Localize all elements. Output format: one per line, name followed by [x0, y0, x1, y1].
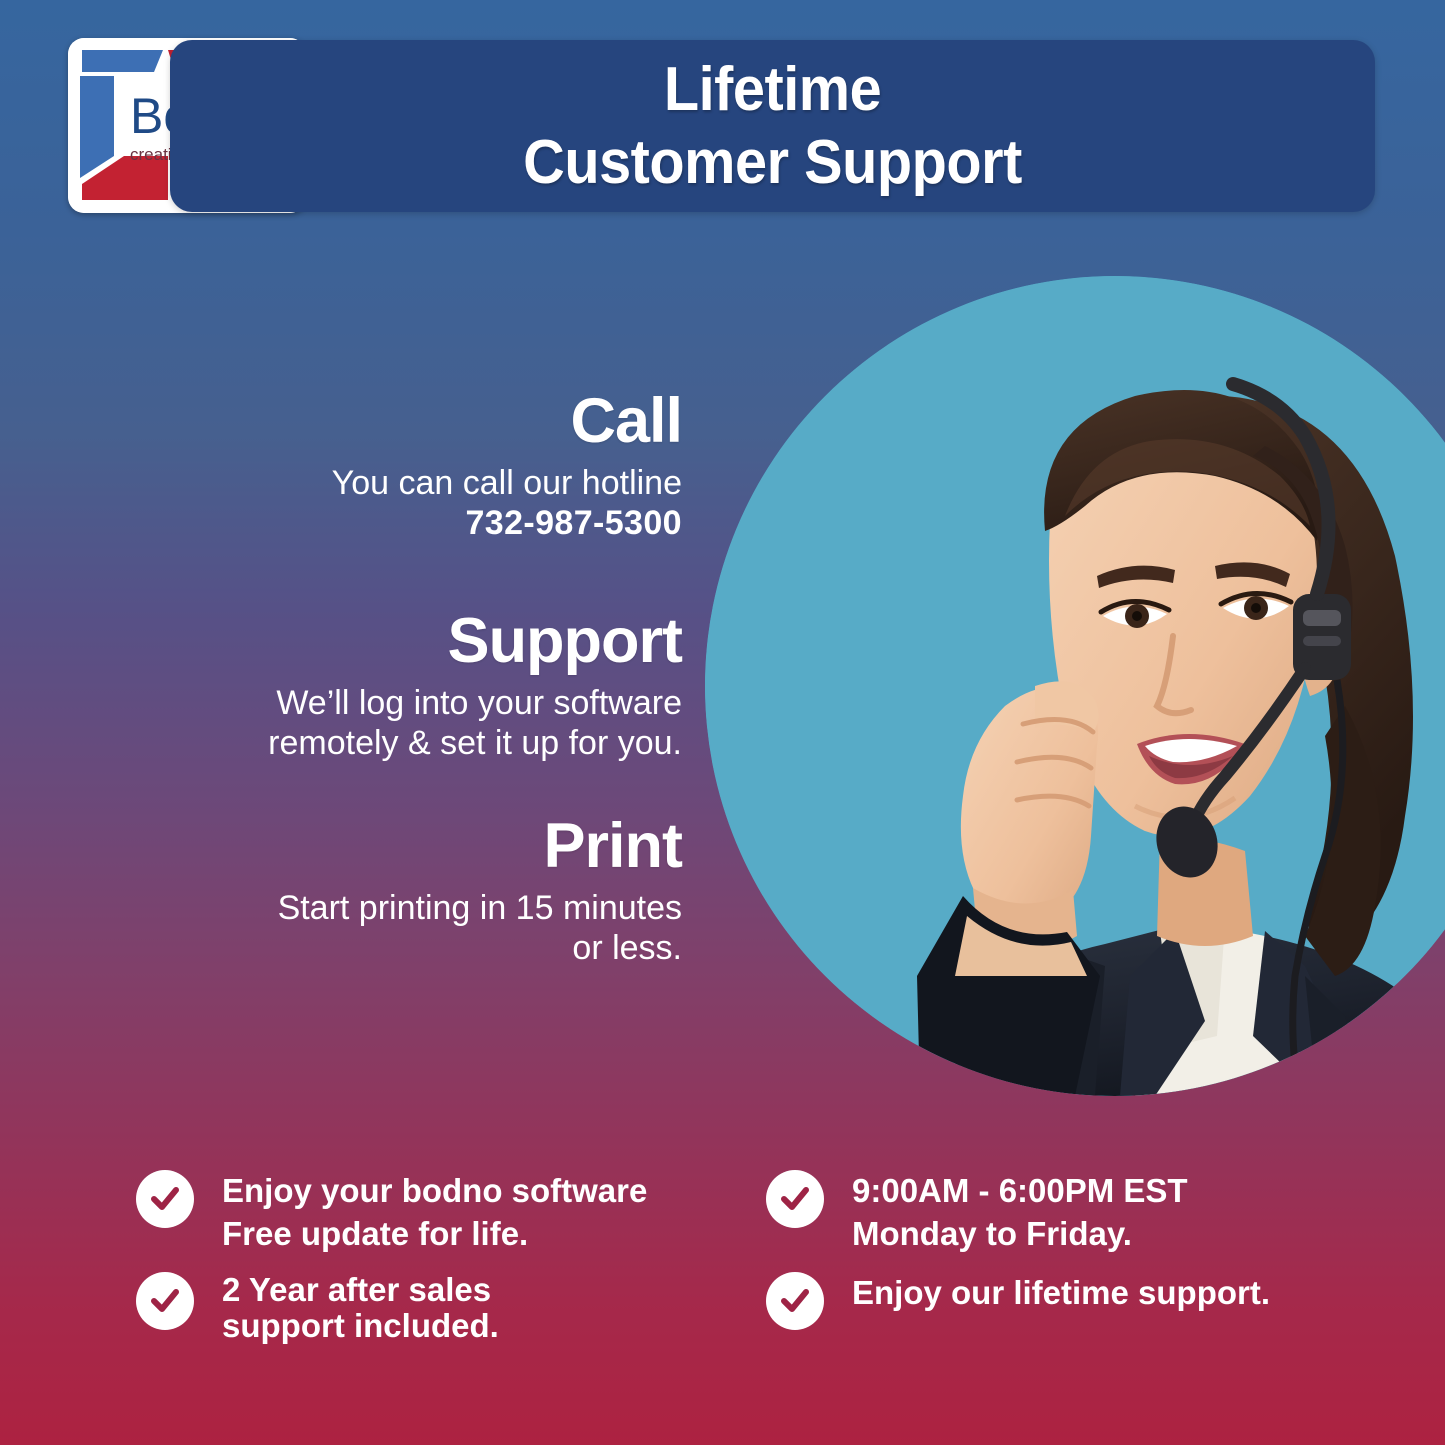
benefits-column-right: 9:00AM - 6:00PM EST Monday to Friday. En…: [766, 1168, 1366, 1344]
support-agent-photo: [705, 276, 1445, 1096]
feature-print: Print Start printing in 15 minutes or le…: [62, 815, 682, 968]
feature-print-body-line1: Start printing in 15 minutes: [278, 889, 682, 927]
list-item-text: 2 Year after sales support included.: [222, 1270, 499, 1345]
benefits-column-left: Enjoy your bodno software Free update fo…: [136, 1168, 726, 1358]
list-item-line1: 2 Year after sales: [222, 1272, 499, 1308]
list-item: 2 Year after sales support included.: [136, 1270, 726, 1345]
check-circle-icon: [766, 1170, 824, 1228]
check-circle-icon: [766, 1272, 824, 1330]
feature-call-body-line1: You can call our hotline: [332, 464, 682, 502]
page-title-line2: Customer Support: [523, 126, 1022, 199]
list-item-text: Enjoy our lifetime support.: [852, 1270, 1270, 1315]
feature-print-body: Start printing in 15 minutes or less.: [62, 888, 682, 968]
list-item-line1: 9:00AM - 6:00PM EST: [852, 1170, 1188, 1213]
feature-support-body-line1: We’ll log into your software: [276, 684, 682, 722]
benefits-checklist: Enjoy your bodno software Free update fo…: [0, 1168, 1445, 1398]
list-item: Enjoy your bodno software Free update fo…: [136, 1168, 726, 1256]
agent-photo-circle: [705, 276, 1445, 1096]
feature-call-body: You can call our hotline 732-987-5300: [62, 463, 682, 543]
feature-support: Support We’ll log into your software rem…: [62, 610, 682, 763]
list-item-line1: Enjoy our lifetime support.: [852, 1272, 1270, 1315]
list-item-line1: Enjoy your bodno software: [222, 1170, 647, 1213]
list-item-line2: Free update for life.: [222, 1213, 647, 1256]
header-banner: Lifetime Customer Support: [170, 40, 1375, 212]
page-title: Lifetime Customer Support: [212, 40, 1333, 212]
promo-poster: Bodno creativity and security Lifetime C…: [0, 0, 1445, 1445]
page-title-line1: Lifetime: [664, 53, 881, 126]
feature-support-heading: Support: [62, 610, 682, 673]
feature-support-body-line2: remotely & set it up for you.: [268, 724, 682, 762]
list-item: 9:00AM - 6:00PM EST Monday to Friday.: [766, 1168, 1366, 1256]
feature-call: Call You can call our hotline 732-987-53…: [62, 390, 682, 543]
feature-print-body-line2: or less.: [572, 929, 682, 967]
check-circle-icon: [136, 1170, 194, 1228]
check-circle-icon: [136, 1272, 194, 1330]
feature-support-body: We’ll log into your software remotely & …: [62, 683, 682, 763]
list-item-text: Enjoy your bodno software Free update fo…: [222, 1168, 647, 1256]
support-phone-number[interactable]: 732-987-5300: [465, 504, 682, 542]
feature-call-heading: Call: [62, 390, 682, 453]
list-item-line2: support included.: [222, 1308, 499, 1344]
list-item-text: 9:00AM - 6:00PM EST Monday to Friday.: [852, 1168, 1188, 1256]
list-item-line2: Monday to Friday.: [852, 1213, 1188, 1256]
feature-print-heading: Print: [62, 815, 682, 878]
list-item: Enjoy our lifetime support.: [766, 1270, 1366, 1330]
